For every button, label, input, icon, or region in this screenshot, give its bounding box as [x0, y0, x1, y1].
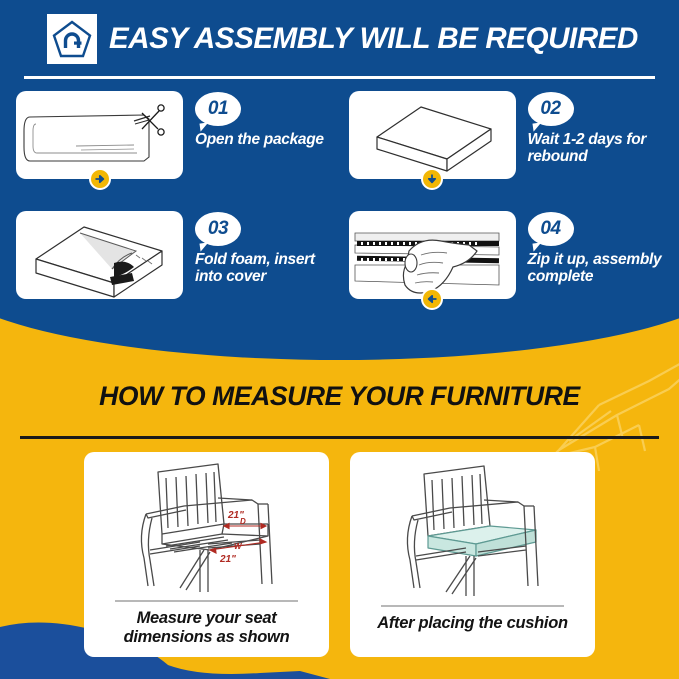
step-number-bubble-02: 02: [528, 92, 574, 126]
step-number-03: 03: [208, 218, 228, 240]
measure-panel-cushion: After placing the cushion: [350, 452, 595, 657]
chair-dimensions-icon: 21" D W 21": [100, 458, 314, 598]
hand-zipping-zipper-icon: [349, 211, 516, 299]
step-item-02: 02 Wait 1-2 days for rebound: [340, 88, 679, 208]
measure-panel-dimensions: 21" D W 21" Measure your seat dimensions…: [84, 452, 329, 657]
measure-panel-caption-cushion: After placing the cushion: [377, 614, 568, 651]
step-number-bubble-04: 04: [528, 212, 574, 246]
header: EASY ASSEMBLY WILL BE REQUIRED: [0, 8, 679, 70]
step-label-01: Open the package: [195, 131, 340, 148]
step-text-04: 04 Zip it up, assembly complete: [528, 212, 679, 286]
step-badge-arrow-left: [421, 288, 443, 310]
step-label-02: Wait 1-2 days for rebound: [528, 131, 679, 166]
step-illustration-card-02: [349, 91, 516, 179]
foam-slab-icon: [349, 91, 516, 179]
step-label-04: Zip it up, assembly complete: [528, 251, 679, 286]
step-illustration-card-01: [16, 91, 183, 179]
step-number-01: 01: [208, 98, 228, 120]
step-number-bubble-03: 03: [195, 212, 241, 246]
step-text-02: 02 Wait 1-2 days for rebound: [528, 92, 679, 166]
step-number-bubble-01: 01: [195, 92, 241, 126]
chair-cushion-icon: [366, 460, 580, 600]
step-badge-arrow-down: [421, 168, 443, 190]
step-item-03: 03 Fold foam, insert into cover: [0, 208, 340, 328]
step-row-2: 03 Fold foam, insert into cover: [0, 208, 679, 328]
width-value-label: 21": [219, 554, 236, 565]
step-number-02: 02: [540, 98, 560, 120]
measure-section-title: HOW TO MEASURE YOUR FURNITURE: [0, 381, 679, 412]
panel-divider: [381, 605, 564, 607]
panel-divider: [115, 600, 298, 602]
chair-with-dimensions-illustration: 21" D W 21": [92, 458, 321, 598]
house-pentagon-logo-icon: [47, 14, 97, 64]
infographic-root: EASY ASSEMBLY WILL BE REQUIRED: [0, 0, 679, 679]
step-label-03: Fold foam, insert into cover: [195, 251, 340, 286]
step-illustration-card-04: [349, 211, 516, 299]
depth-letter-label: D: [240, 517, 246, 526]
foam-into-cover-icon: [16, 211, 183, 299]
step-row-1: 01 Open the package: [0, 88, 679, 208]
step-text-01: 01 Open the package: [195, 92, 340, 148]
step-illustration-card-03: [16, 211, 183, 299]
page-title: EASY ASSEMBLY WILL BE REQUIRED: [109, 22, 638, 56]
step-item-04: 04 Zip it up, assembly complete: [340, 208, 679, 328]
measure-section-divider: [20, 436, 659, 439]
package-with-scissors-icon: [16, 91, 183, 179]
measure-panel-caption-dimensions: Measure your seat dimensions as shown: [92, 609, 321, 651]
step-badge-arrow-right: [89, 168, 111, 190]
step-item-01: 01 Open the package: [0, 88, 340, 208]
step-number-04: 04: [540, 218, 560, 240]
header-divider: [24, 76, 655, 79]
measure-panels: 21" D W 21" Measure your seat dimensions…: [0, 452, 679, 664]
step-text-03: 03 Fold foam, insert into cover: [195, 212, 340, 286]
chair-with-cushion-illustration: [358, 458, 587, 603]
width-letter-label: W: [234, 542, 243, 551]
assembly-steps: 01 Open the package: [0, 88, 679, 328]
